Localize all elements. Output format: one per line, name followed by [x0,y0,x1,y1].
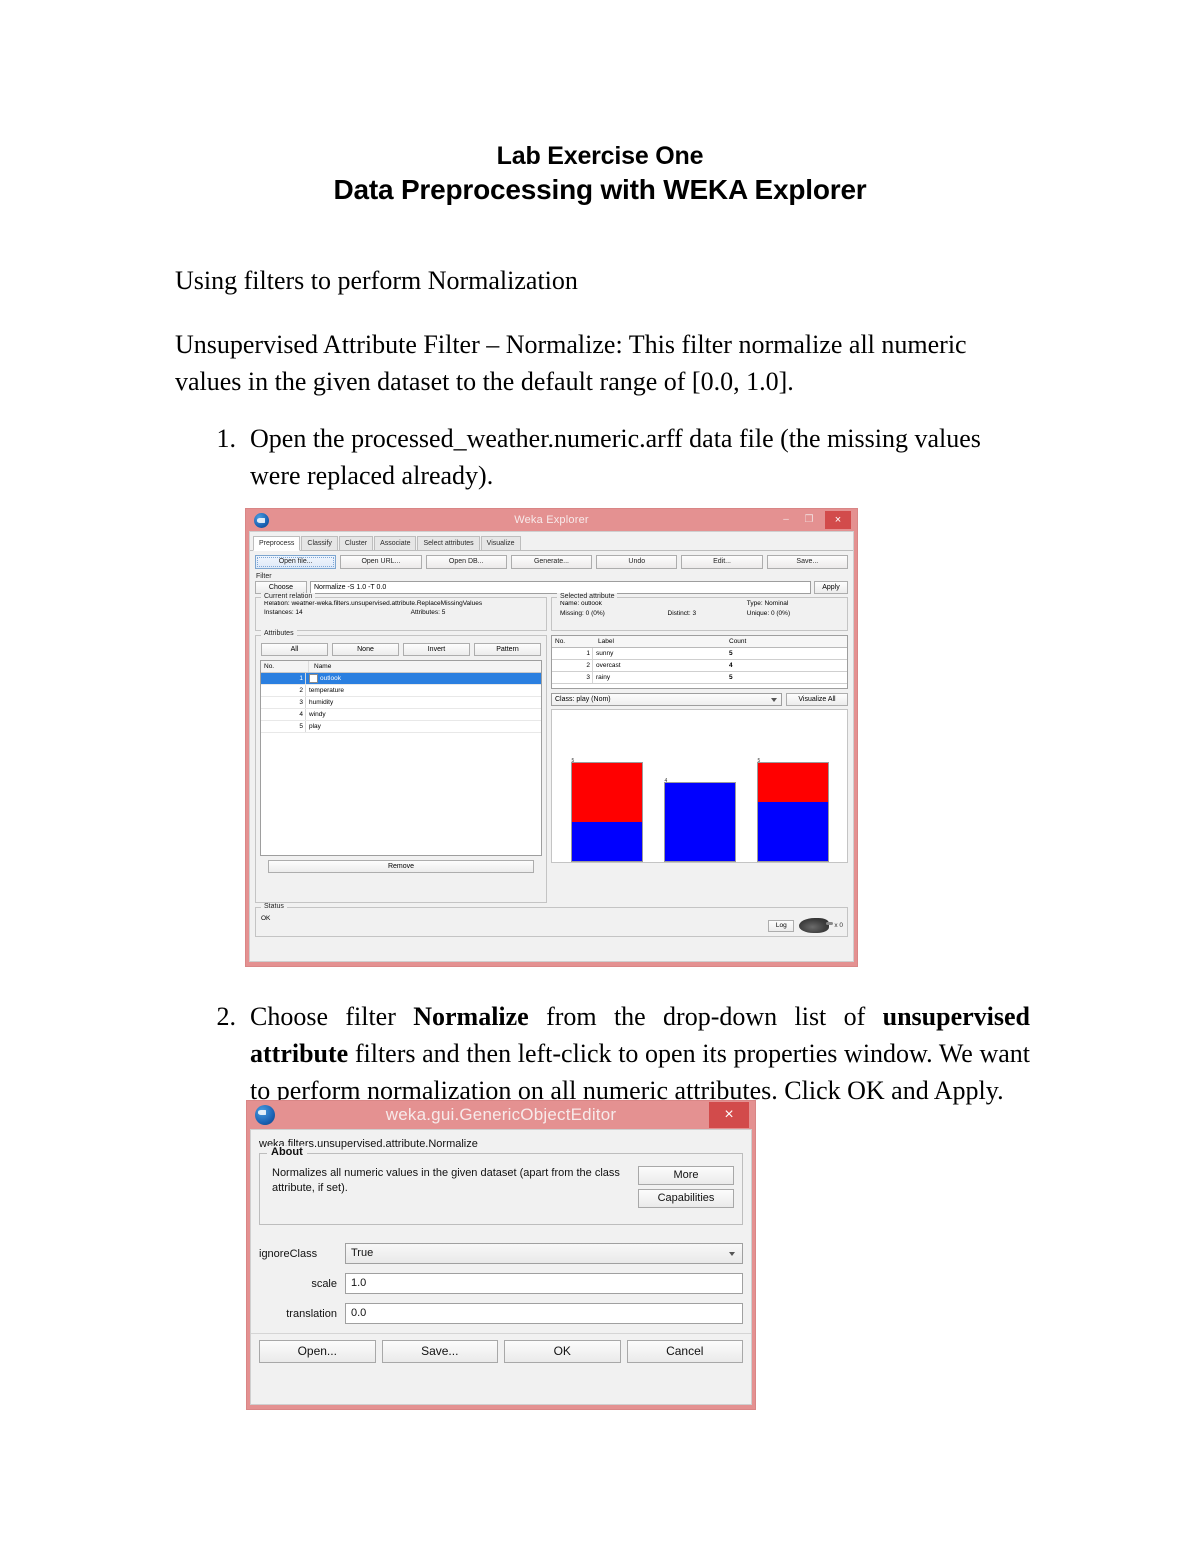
bar-segment-no [572,763,642,822]
attributes-group-label: Attributes [261,630,297,638]
tab-select-attributes[interactable]: Select attributes [417,536,479,550]
value-label: sunny [592,648,726,659]
list-item-text: Choose filter Normalize from the drop-do… [250,998,1030,1109]
histogram-bar-sunny: 5 [571,716,643,862]
tab-associate[interactable]: Associate [374,536,416,550]
about-buttons: More Capabilities [638,1166,734,1208]
attr-row-no: 3 [261,697,305,708]
generic-object-editor-window: weka.gui.GenericObjectEditor × weka.filt… [246,1100,756,1410]
explorer-titlebar: Weka Explorer – ❐ × [246,509,857,531]
class-selector-row: Class: play (Nom) Visualize All [551,693,848,706]
selected-attribute-panel: Selected attribute Name: outlook Type: N… [551,597,848,631]
running-tasks-count: x 0 [834,922,843,929]
step2-part2: from the drop-down list of [529,1002,883,1031]
attr-row-name: play [309,721,321,732]
instances-count: Instances: 14 [260,608,411,617]
invert-selection-button[interactable]: Invert [403,643,470,656]
about-group: About Normalizes all numeric values in t… [259,1153,743,1225]
list-item[interactable]: 1 outlook [261,673,541,685]
bar-segment-no [758,763,828,802]
list-item-number: 2. [210,998,236,1109]
list-item[interactable]: 2 temperature [261,685,541,697]
translation-input[interactable]: 0.0 [345,1303,743,1324]
attr-row-no: 1 [261,673,305,684]
ignoreclass-label: ignoreClass [259,1248,337,1260]
bar-segment-yes [758,802,828,861]
table-row[interactable]: 3 rainy 5 [552,672,847,684]
attributes-button-row: All None Invert Pattern [256,636,546,660]
left-pane: Current relation Relation: weather-weka.… [255,597,547,903]
right-pane: Selected attribute Name: outlook Type: N… [551,597,848,903]
goe-body: weka.filters.unsupervised.attribute.Norm… [250,1129,752,1405]
class-distribution-histogram[interactable]: 5 4 5 [551,709,848,863]
value-label: rainy [592,672,726,683]
filter-row: Choose Normalize -S 1.0 -T 0.0 Apply [250,581,853,597]
attributes-panel: Attributes All None Invert Pattern No. N… [255,635,547,903]
explorer-panes: Current relation Relation: weather-weka.… [250,597,853,903]
bar-tick-label-sunny: 5 [572,759,575,764]
open-db-button[interactable]: Open DB... [426,555,507,569]
scale-input[interactable]: 1.0 [345,1273,743,1294]
goe-titlebar: weka.gui.GenericObjectEditor × [247,1101,755,1129]
attribute-missing: Missing: 0 (0%) [560,609,668,618]
value-count: 5 [726,648,847,659]
class-dropdown[interactable]: Class: play (Nom) [551,693,782,706]
save-button[interactable]: Save... [382,1340,499,1363]
translation-label: translation [259,1308,337,1320]
save-button[interactable]: Save... [767,555,848,569]
goe-window-title: weka.gui.GenericObjectEditor [247,1105,755,1125]
property-row-scale: scale 1.0 [259,1273,743,1294]
open-button[interactable]: Open... [259,1340,376,1363]
scale-label: scale [259,1278,337,1290]
maximize-icon[interactable]: ❐ [802,513,816,527]
edit-button[interactable]: Edit... [681,555,762,569]
close-icon[interactable]: × [709,1102,749,1128]
attr-row-no: 4 [261,709,305,720]
about-group-label: About [267,1146,307,1158]
weka-logo-icon [254,513,269,528]
undo-button[interactable]: Undo [596,555,677,569]
page-title: Lab Exercise One Data Preprocessing with… [0,140,1200,208]
checkbox-icon[interactable] [309,674,318,683]
capabilities-button[interactable]: Capabilities [638,1189,734,1208]
log-button[interactable]: Log [768,920,794,932]
attributes-list[interactable]: No. Name 1 outlook 2 temperature [260,660,542,856]
chevron-down-icon [771,698,777,702]
open-url-button[interactable]: Open URL... [340,555,421,569]
explorer-tabstrip: Preprocess Classify Cluster Associate Se… [250,532,853,551]
attr-row-no: 5 [261,721,305,732]
value-no: 1 [552,648,592,659]
current-relation-label: Current relation [261,593,315,601]
list-item-number: 1. [210,420,236,494]
ignoreclass-value: True [351,1247,373,1259]
goe-footer: Open... Save... OK Cancel [251,1333,751,1363]
list-item-text: Open the processed_weather.numeric.arff … [250,420,1030,494]
generate-button[interactable]: Generate... [511,555,592,569]
more-button[interactable]: More [638,1166,734,1185]
table-row[interactable]: 2 overcast 4 [552,660,847,672]
goe-window-controls: × [709,1102,751,1128]
window-controls: – ❐ × [779,511,853,529]
tab-preprocess[interactable]: Preprocess [253,536,300,551]
list-item[interactable]: 4 windy [261,709,541,721]
value-count: 5 [726,672,847,683]
goe-properties: ignoreClass True scale 1.0 translation 0… [251,1225,751,1324]
weka-logo-icon [255,1105,275,1125]
weka-explorer-window: Weka Explorer – ❐ × Preprocess Classify … [245,508,858,967]
bar-segment-yes [665,783,735,861]
list-item: 2. Choose filter Normalize from the drop… [210,998,1030,1109]
chevron-down-icon [729,1252,735,1256]
tab-cluster[interactable]: Cluster [339,536,373,550]
tab-visualize[interactable]: Visualize [481,536,521,550]
goe-class-path: weka.filters.unsupervised.attribute.Norm… [251,1130,751,1153]
intro-paragraph: Using filters to perform Normalization [175,262,1030,299]
document-page: Lab Exercise One Data Preprocessing with… [0,0,1200,1553]
select-all-button[interactable]: All [261,643,328,656]
attr-col-name: Name [309,661,541,672]
explorer-body: Preprocess Classify Cluster Associate Se… [249,531,854,962]
attribute-type: Type: Nominal [747,599,843,608]
class-dropdown-value: Class: play (Nom) [555,696,611,703]
cancel-button[interactable]: Cancel [627,1340,744,1363]
filter-group-label: Filter [250,572,853,581]
current-relation-panel: Current relation Relation: weather-weka.… [255,597,547,631]
status-group-label: Status [261,903,287,911]
bar-segment-yes [572,822,642,861]
step2-bold-normalize: Normalize [413,1002,529,1031]
select-none-button[interactable]: None [332,643,399,656]
attr-row-no: 2 [261,685,305,696]
minimize-icon[interactable]: – [779,513,793,527]
pattern-button[interactable]: Pattern [474,643,541,656]
title-line-2: Data Preprocessing with WEKA Explorer [0,172,1200,208]
attr-row-name: temperature [309,685,344,696]
ignoreclass-dropdown[interactable]: True [345,1243,743,1264]
attr-col-no: No. [261,661,309,672]
table-row[interactable]: 1 sunny 5 [552,648,847,660]
value-no: 2 [552,660,592,671]
attr-row-name: outlook [320,673,341,684]
explorer-window-title: Weka Explorer [246,514,857,526]
list-item[interactable]: 5 play [261,721,541,733]
remove-attribute-button[interactable]: Remove [268,860,535,873]
attributes-count: Attributes: 5 [411,608,446,617]
attr-row-name: humidity [309,697,333,708]
step2-part1: Choose filter [250,1002,413,1031]
value-no: 3 [552,672,592,683]
status-right-controls: Log x 0 [768,918,843,933]
attr-row-name: windy [309,709,326,720]
attribute-values-table[interactable]: No. Label Count 1 sunny 5 2 overcast [551,635,848,689]
tab-classify[interactable]: Classify [301,536,338,550]
about-description: Normalizes all numeric values in the giv… [272,1166,628,1208]
ok-button[interactable]: OK [504,1340,621,1363]
list-item: 1. Open the processed_weather.numeric.ar… [210,420,1030,494]
values-col-no: No. [552,636,595,647]
bar-tick-label-overcast: 4 [665,779,668,784]
list-item[interactable]: 3 humidity [261,697,541,709]
selected-attribute-label: Selected attribute [557,593,617,601]
attribute-unique: Unique: 0 (0%) [747,609,843,618]
close-icon[interactable]: × [825,511,851,529]
source-button-row: Open file... Open URL... Open DB... Gene… [250,551,853,572]
property-row-ignoreclass: ignoreClass True [259,1243,743,1264]
value-count: 4 [726,660,847,671]
open-file-button[interactable]: Open file... [255,555,336,569]
step2-part3: filters and then left-click to open its … [250,1039,1030,1105]
status-panel: Status OK Log x 0 [255,907,848,937]
values-col-label: Label [595,636,726,647]
bar-tick-label-rainy: 5 [758,759,761,764]
histogram-bar-rainy: 5 [757,716,829,862]
visualize-all-button[interactable]: Visualize All [786,693,848,706]
value-label: overcast [592,660,726,671]
histogram-bar-overcast: 4 [664,716,736,862]
property-row-translation: translation 0.0 [259,1303,743,1324]
values-table-header: No. Label Count [552,636,847,648]
status-text: OK [256,908,847,923]
weka-bird-icon[interactable] [799,918,829,933]
description-paragraph: Unsupervised Attribute Filter – Normaliz… [175,326,1030,400]
values-col-count: Count [726,636,847,647]
apply-filter-button[interactable]: Apply [814,581,848,594]
attributes-list-header: No. Name [261,661,541,673]
title-line-1: Lab Exercise One [0,140,1200,172]
attribute-distinct: Distinct: 3 [668,609,747,618]
